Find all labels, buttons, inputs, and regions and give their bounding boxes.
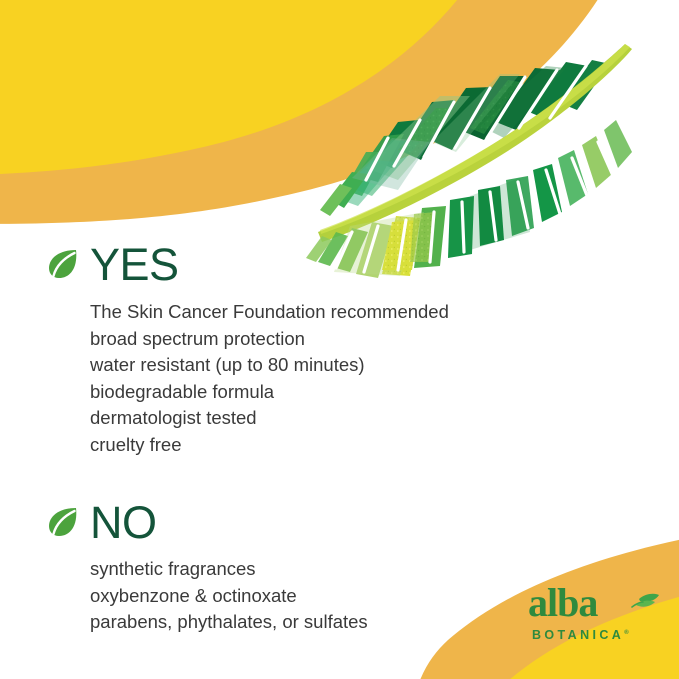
list-item: biodegradable formula bbox=[90, 379, 449, 406]
no-heading: NO bbox=[90, 500, 157, 545]
botanica-label: BOTANICA bbox=[532, 628, 624, 642]
leaf-icon bbox=[46, 246, 82, 282]
alba-wordmark-text: alba bbox=[528, 583, 598, 625]
no-heading-row: NO bbox=[46, 496, 368, 548]
list-item: water resistant (up to 80 minutes) bbox=[90, 352, 449, 379]
no-section: NO synthetic fragrances oxybenzone & oct… bbox=[46, 496, 368, 636]
list-item: dermatologist tested bbox=[90, 405, 449, 432]
no-list: synthetic fragrances oxybenzone & octino… bbox=[90, 556, 368, 636]
botanica-text: BOTANICA® bbox=[532, 628, 629, 642]
sprout-icon bbox=[632, 594, 659, 607]
poster-canvas: YES The Skin Cancer Foundation recommend… bbox=[0, 0, 679, 679]
alba-wordmark: alba bbox=[528, 583, 664, 627]
leaf-icon bbox=[46, 504, 82, 540]
registered-mark: ® bbox=[624, 630, 628, 636]
list-item: parabens, phythalates, or sulfates bbox=[90, 609, 368, 636]
list-item: cruelty free bbox=[90, 432, 449, 459]
yes-list: The Skin Cancer Foundation recommended b… bbox=[90, 299, 449, 458]
list-item: oxybenzone & octinoxate bbox=[90, 583, 368, 610]
list-item: broad spectrum protection bbox=[90, 326, 449, 353]
list-item: synthetic fragrances bbox=[90, 556, 368, 583]
list-item: The Skin Cancer Foundation recommended bbox=[90, 299, 449, 326]
yes-heading: YES bbox=[90, 242, 179, 287]
yes-section: YES The Skin Cancer Foundation recommend… bbox=[46, 238, 449, 458]
brand-logo: alba BOTANICA® bbox=[528, 583, 664, 649]
yes-heading-row: YES bbox=[46, 238, 449, 290]
